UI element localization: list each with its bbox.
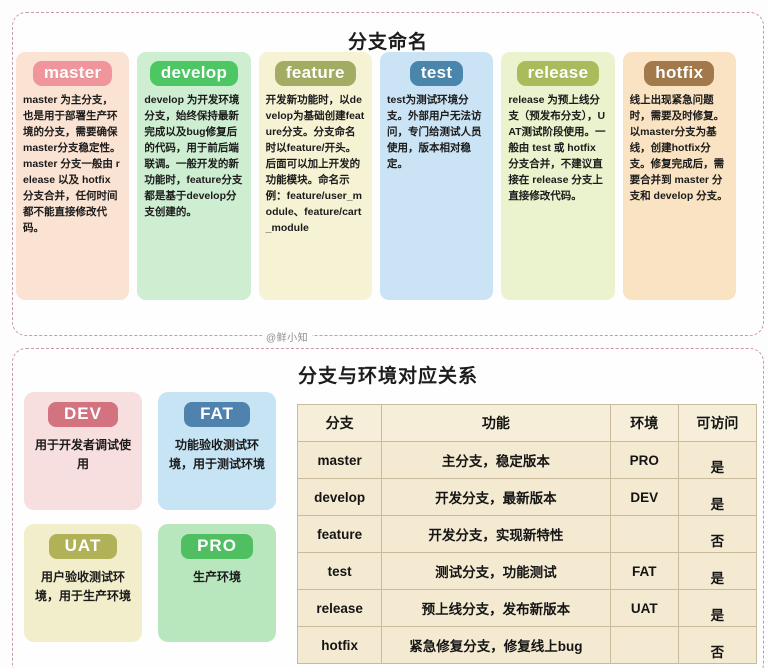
table-row: master主分支，稳定版本PRO是 (298, 442, 757, 479)
environment-card-dev: DEV用于开发者调试使用 (24, 392, 142, 510)
table-cell-function: 开发分支，实现新特性 (382, 516, 610, 553)
branch-cards-row: mastermaster 为主分支，也是用于部署生产环境的分支，需要确保mast… (16, 52, 736, 300)
table-cell-access: 否 (678, 516, 756, 553)
table-col-header-3: 可访问 (678, 405, 756, 442)
branch-environment-title: 分支与环境对应关系 (13, 361, 763, 388)
table-cell-function: 开发分支，最新版本 (382, 479, 610, 516)
table-header-row: 分支功能环境可访问 (298, 405, 757, 442)
branch-badge-hotfix: hotfix (644, 61, 714, 86)
table-cell-env: PRO (610, 442, 678, 479)
table-cell-branch: release (298, 590, 382, 627)
table-row: develop开发分支，最新版本DEV是 (298, 479, 757, 516)
environment-card-pro: PRO生产环境 (158, 524, 276, 642)
branch-card-feature: feature开发新功能时，以develop为基础创建feature分支。分支命… (259, 52, 372, 300)
table-cell-branch: hotfix (298, 627, 382, 664)
table-cell-access: 是 (678, 553, 756, 590)
table-header: 分支功能环境可访问 (298, 405, 757, 442)
watermark: @鲜小知 (262, 329, 312, 344)
table-cell-function: 预上线分支，发布新版本 (382, 590, 610, 627)
table-row: release预上线分支，发布新版本UAT是 (298, 590, 757, 627)
table-cell-branch: test (298, 553, 382, 590)
table-col-header-1: 功能 (382, 405, 610, 442)
environment-description-uat: 用户验收测试环境，用于生产环境 (32, 568, 134, 605)
environment-badge-fat: FAT (184, 402, 250, 427)
table-cell-env (610, 516, 678, 553)
environment-description-dev: 用于开发者调试使用 (32, 436, 134, 473)
table-cell-branch: feature (298, 516, 382, 553)
branch-badge-develop: develop (150, 61, 238, 86)
infographic-page: 分支命名 mastermaster 为主分支，也是用于部署生产环境的分支，需要确… (0, 0, 768, 668)
branch-badge-test: test (410, 61, 463, 86)
table-cell-env: FAT (610, 553, 678, 590)
table-row: test测试分支，功能测试FAT是 (298, 553, 757, 590)
table-body: master主分支，稳定版本PRO是develop开发分支，最新版本DEV是fe… (298, 442, 757, 664)
table-cell-branch: develop (298, 479, 382, 516)
table-cell-access: 否 (678, 627, 756, 664)
branch-badge-release: release (517, 61, 600, 86)
branch-naming-title: 分支命名 (13, 27, 763, 54)
branch-card-master: mastermaster 为主分支，也是用于部署生产环境的分支，需要确保mast… (16, 52, 129, 300)
table-cell-branch: master (298, 442, 382, 479)
table-cell-function: 主分支，稳定版本 (382, 442, 610, 479)
table-cell-function: 紧急修复分支，修复线上bug (382, 627, 610, 664)
branch-description-master: master 为主分支，也是用于部署生产环境的分支，需要确保master分支稳定… (23, 93, 122, 237)
environment-badge-dev: DEV (48, 402, 118, 427)
branch-environment-table: 分支功能环境可访问 master主分支，稳定版本PRO是develop开发分支，… (297, 404, 757, 664)
branch-description-release: release 为预上线分支（预发布分支），UAT测试阶段使用。一般由 test… (508, 93, 607, 205)
environment-description-pro: 生产环境 (193, 568, 241, 587)
table-col-header-2: 环境 (610, 405, 678, 442)
environment-badge-pro: PRO (181, 534, 253, 559)
environment-card-uat: UAT用户验收测试环境，用于生产环境 (24, 524, 142, 642)
branch-description-feature: 开发新功能时，以develop为基础创建feature分支。分支命名时以feat… (266, 93, 365, 237)
branch-description-test: test为测试环境分支。外部用户无法访问，专门给测试人员使用，版本相对稳定。 (387, 93, 486, 173)
branch-badge-feature: feature (275, 61, 356, 86)
table-cell-env: DEV (610, 479, 678, 516)
environment-badge-uat: UAT (49, 534, 118, 559)
table-cell-env: UAT (610, 590, 678, 627)
environment-cards-grid: DEV用于开发者调试使用FAT功能验收测试环境，用于测试环境UAT用户验收测试环… (24, 392, 282, 642)
branch-card-hotfix: hotfix线上出现紧急问题时，需要及时修复。以master分支为基线，创建ho… (623, 52, 736, 300)
branch-card-test: testtest为测试环境分支。外部用户无法访问，专门给测试人员使用，版本相对稳… (380, 52, 493, 300)
environment-description-fat: 功能验收测试环境，用于测试环境 (166, 436, 268, 473)
branch-card-develop: developdevelop 为开发环境分支，始终保持最新完成以及bug修复后的… (137, 52, 250, 300)
table-cell-access: 是 (678, 590, 756, 627)
table-cell-function: 测试分支，功能测试 (382, 553, 610, 590)
branch-description-develop: develop 为开发环境分支，始终保持最新完成以及bug修复后的代码，用于前后… (144, 93, 243, 221)
table-row: feature开发分支，实现新特性否 (298, 516, 757, 553)
branch-badge-master: master (33, 61, 113, 86)
branch-description-hotfix: 线上出现紧急问题时，需要及时修复。以master分支为基线，创建hotfix分支… (630, 93, 729, 205)
branch-card-release: releaserelease 为预上线分支（预发布分支），UAT测试阶段使用。一… (501, 52, 614, 300)
table-col-header-0: 分支 (298, 405, 382, 442)
table-cell-access: 是 (678, 442, 756, 479)
table-cell-env (610, 627, 678, 664)
branch-environment-table-wrap: 分支功能环境可访问 master主分支，稳定版本PRO是develop开发分支，… (297, 404, 757, 664)
environment-card-fat: FAT功能验收测试环境，用于测试环境 (158, 392, 276, 510)
table-row: hotfix紧急修复分支，修复线上bug否 (298, 627, 757, 664)
table-cell-access: 是 (678, 479, 756, 516)
